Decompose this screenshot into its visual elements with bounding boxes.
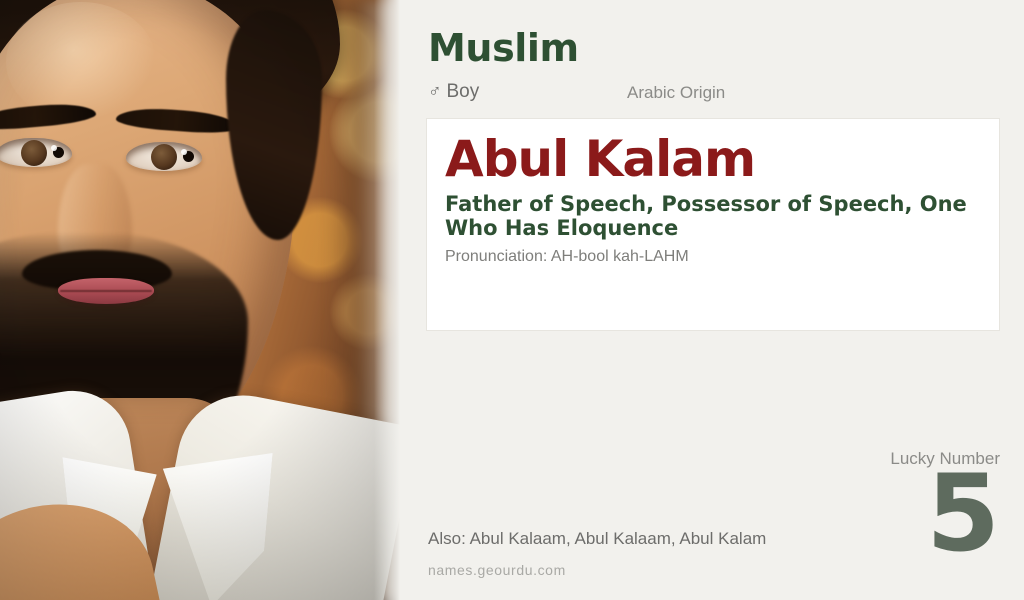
name-info-card: Muslim ♂Boy Arabic Origin Abul Kalam Fat…: [0, 0, 1024, 600]
lucky-number-block: Lucky Number 5: [800, 450, 1000, 564]
portrait-eye-left: [0, 138, 72, 167]
site-watermark: names.geourdu.com: [428, 562, 566, 578]
name-title: Abul Kalam: [445, 133, 981, 186]
portrait-eye-glint-left: [51, 145, 57, 151]
portrait-iris-right: [151, 144, 177, 170]
portrait-forehead-highlight: [6, 2, 156, 122]
name-pronunciation: Pronunciation: AH-bool kah-LAHM: [445, 248, 981, 266]
meta-row: ♂Boy Arabic Origin: [428, 81, 988, 105]
origin-label: Arabic Origin: [627, 83, 725, 103]
portrait-photo: [0, 0, 400, 600]
portrait-eye-glint-right: [181, 149, 187, 155]
lucky-number-value: 5: [800, 463, 1000, 565]
gender-text: Boy: [447, 81, 480, 102]
info-panel: Muslim ♂Boy Arabic Origin Abul Kalam Fat…: [400, 0, 1024, 600]
alternate-spellings: Also: Abul Kalaam, Abul Kalaam, Abul Kal…: [428, 529, 766, 549]
portrait-eyebrow-right: [115, 106, 238, 135]
portrait-lip-line: [60, 290, 152, 292]
male-symbol-icon: ♂: [428, 81, 442, 101]
portrait-iris-left: [21, 140, 47, 166]
name-meaning: Father of Speech, Possessor of Speech, O…: [445, 192, 981, 241]
gender-label: ♂Boy: [428, 81, 479, 103]
portrait-eye-right: [126, 142, 202, 171]
name-detail-card: Abul Kalam Father of Speech, Possessor o…: [426, 118, 1000, 331]
religion-title: Muslim: [428, 26, 579, 70]
